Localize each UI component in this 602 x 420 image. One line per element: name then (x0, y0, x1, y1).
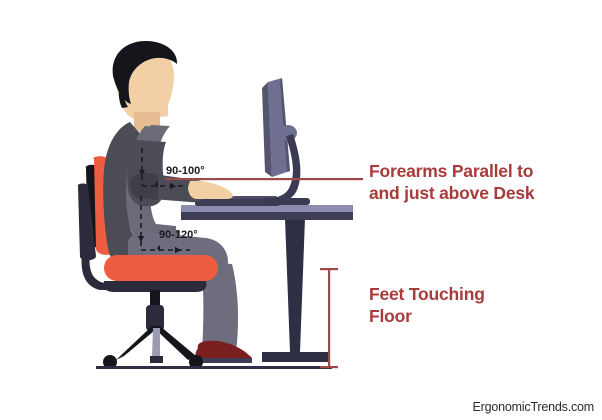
desk-top (181, 205, 353, 220)
watermark-text: ErgonomicTrends.com (473, 400, 594, 414)
angle-label-elbow: 90-100° (166, 165, 205, 177)
angle-label-hip: 90-120° (159, 229, 198, 241)
seat-cushion (104, 255, 218, 281)
gas-cylinder (146, 290, 164, 331)
diagram-canvas: Forearms Parallel to and just above Desk… (0, 0, 602, 420)
chair-base-star (116, 326, 196, 363)
callout-forearms-text: Forearms Parallel to and just above Desk (369, 160, 534, 205)
hand (188, 181, 233, 199)
forearms-leader-line (165, 178, 363, 180)
ergonomic-posture-illustration (0, 0, 602, 420)
callout-feet-text: Feet Touching Floor (369, 283, 485, 328)
floor-line (96, 366, 332, 369)
desk-pedestal-leg (262, 218, 328, 362)
